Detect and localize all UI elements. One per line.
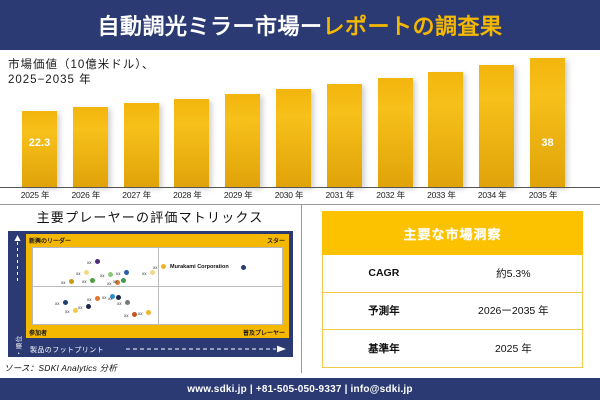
matrix-point xyxy=(124,270,129,275)
insight-key: 予測年 xyxy=(323,303,445,318)
x-tick-3: 2028 年 xyxy=(165,189,209,201)
page-header: 自動調光ミラー市場ーレポートの調査果 xyxy=(0,0,600,50)
matrix-point xyxy=(90,278,95,283)
matrix-point-label: xx xyxy=(138,311,143,316)
key-insights-rows: CAGR約5.3%予測年2026ー2035 年基準年2025 年 xyxy=(322,255,583,368)
matrix-point-label: xx xyxy=(76,271,81,276)
page-title-accent: レポートの調査果 xyxy=(323,14,503,39)
matrix-title: 主要プレーヤーの評価マトリックス xyxy=(0,207,300,226)
insight-row: 予測年2026ー2035 年 xyxy=(322,293,583,331)
matrix-point-label: xx xyxy=(116,271,121,276)
x-tick-8: 2033 年 xyxy=(419,189,463,201)
matrix-point xyxy=(150,270,155,275)
bar-2029 xyxy=(225,94,260,187)
x-tick-7: 2032 年 xyxy=(369,189,413,201)
chart-x-labels: 2025 年2026 年2027 年2028 年2029 年2030 年2031… xyxy=(0,189,600,203)
matrix-point-label: xx xyxy=(117,301,122,306)
bar-2028 xyxy=(174,99,209,187)
matrix-point-label: xx xyxy=(82,279,87,284)
bar-2025: 22.3 xyxy=(22,111,57,187)
bar-2035: 38 xyxy=(530,58,565,187)
x-tick-4: 2029 年 xyxy=(216,189,260,201)
matrix-point xyxy=(63,300,68,305)
x-tick-0: 2025 年 xyxy=(13,189,57,201)
evaluation-matrix-panel: 主要プレーヤーの評価マトリックス 市場シェア・順位 新興のリーダー スター 参加… xyxy=(0,205,300,377)
matrix-point xyxy=(95,296,100,301)
source-note: ソース：SDKI Analytics 分析 xyxy=(4,362,117,374)
matrix-point-label: xx xyxy=(100,273,105,278)
matrix-point xyxy=(132,312,137,317)
matrix-point-label: xx xyxy=(102,295,107,300)
bar-value-label: 22.3 xyxy=(22,137,57,149)
bar-2033 xyxy=(428,72,463,187)
y-axis-arrow-icon xyxy=(14,235,21,283)
matrix-point-label: xx xyxy=(107,281,112,286)
x-tick-10: 2035 年 xyxy=(521,189,565,201)
matrix-point-label: xx xyxy=(87,297,92,302)
insight-key: CAGR xyxy=(323,267,445,279)
insight-row: 基準年2025 年 xyxy=(322,330,583,368)
matrix-point-label: xx xyxy=(108,296,113,301)
bar-2026 xyxy=(73,107,108,187)
insight-row: CAGR約5.3% xyxy=(322,255,583,293)
matrix-point-label: xx xyxy=(153,265,158,270)
matrix-highlight-dot xyxy=(241,265,246,270)
matrix-point xyxy=(125,300,130,305)
bar-series: 22.338 xyxy=(0,50,600,187)
matrix-point-label: xx xyxy=(124,313,129,318)
matrix-point xyxy=(146,310,151,315)
quadrant-label-pervasive-players: 普及プレーヤー xyxy=(243,328,285,337)
x-tick-9: 2034 年 xyxy=(470,189,514,201)
matrix-y-axis: 市場シェア・順位 xyxy=(8,231,26,335)
insight-value: 2026ー2035 年 xyxy=(445,303,582,318)
matrix-point xyxy=(86,304,91,309)
matrix-highlight-label: Murakami Corporation xyxy=(170,264,229,270)
footer-contact: www.sdki.jp | +81-505-050-9337 | info@sd… xyxy=(187,384,412,395)
chart-baseline xyxy=(0,187,600,188)
quadrant-label-participants: 参加者 xyxy=(29,328,47,337)
matrix-point-label: xx xyxy=(78,305,83,310)
matrix-point-label: xx xyxy=(142,271,147,276)
bar-2032 xyxy=(378,78,413,187)
matrix-point xyxy=(69,279,74,284)
matrix-x-axis-label: 製品のフットプリント xyxy=(30,345,104,355)
bar-2027 xyxy=(124,103,159,187)
x-tick-6: 2031 年 xyxy=(318,189,362,201)
x-axis-arrow-icon xyxy=(126,345,286,353)
x-tick-5: 2030 年 xyxy=(267,189,311,201)
bar-chart-panel: 市場価値（10億米ドル）、 2025−2035 年 22.338 xyxy=(0,50,600,205)
matrix-point xyxy=(121,278,126,283)
matrix-point-label: xx xyxy=(113,279,118,284)
x-tick-1: 2026 年 xyxy=(64,189,108,201)
vertical-divider xyxy=(301,205,302,373)
matrix-point-label: xx xyxy=(65,309,70,314)
page-title-primary: 自動調光ミラー市場ー xyxy=(97,14,322,39)
bar-2034 xyxy=(479,65,514,187)
insight-value: 2025 年 xyxy=(445,341,582,356)
matrix-point xyxy=(95,259,100,264)
matrix-point-label: xx xyxy=(55,301,60,306)
bar-2030 xyxy=(276,89,311,187)
matrix-horizontal-gridline xyxy=(33,286,282,287)
matrix-point-label: xx xyxy=(87,260,92,265)
matrix-point xyxy=(116,295,121,300)
quadrant-label-stars: スター xyxy=(267,236,285,245)
key-insights-header: 主要な市場洞察 xyxy=(322,211,583,255)
page-title: 自動調光ミラー市場ーレポートの調査果 xyxy=(97,9,502,41)
matrix-inner-band: 新興のリーダー スター 参加者 普及プレーヤー Murakami Corpora… xyxy=(26,234,289,338)
bar-value-label: 38 xyxy=(530,137,565,149)
matrix-point-label: xx xyxy=(61,280,66,285)
matrix-plot-area: Murakami Corporation xxxxxxxxxxxxxxxxxxx… xyxy=(32,247,283,325)
page-footer: www.sdki.jp | +81-505-050-9337 | info@sd… xyxy=(0,378,600,400)
key-insights-table: 主要な市場洞察 CAGR約5.3%予測年2026ー2035 年基準年2025 年 xyxy=(322,211,583,369)
matrix-frame: 市場シェア・順位 新興のリーダー スター 参加者 普及プレーヤー Murakam… xyxy=(8,231,293,357)
quadrant-label-emerging-leaders: 新興のリーダー xyxy=(29,236,71,245)
matrix-point xyxy=(161,264,166,269)
matrix-point xyxy=(108,272,113,277)
insight-key: 基準年 xyxy=(323,341,445,356)
matrix-point xyxy=(84,270,89,275)
x-tick-2: 2027 年 xyxy=(115,189,159,201)
insight-value: 約5.3% xyxy=(445,266,582,281)
bar-2031 xyxy=(327,84,362,187)
